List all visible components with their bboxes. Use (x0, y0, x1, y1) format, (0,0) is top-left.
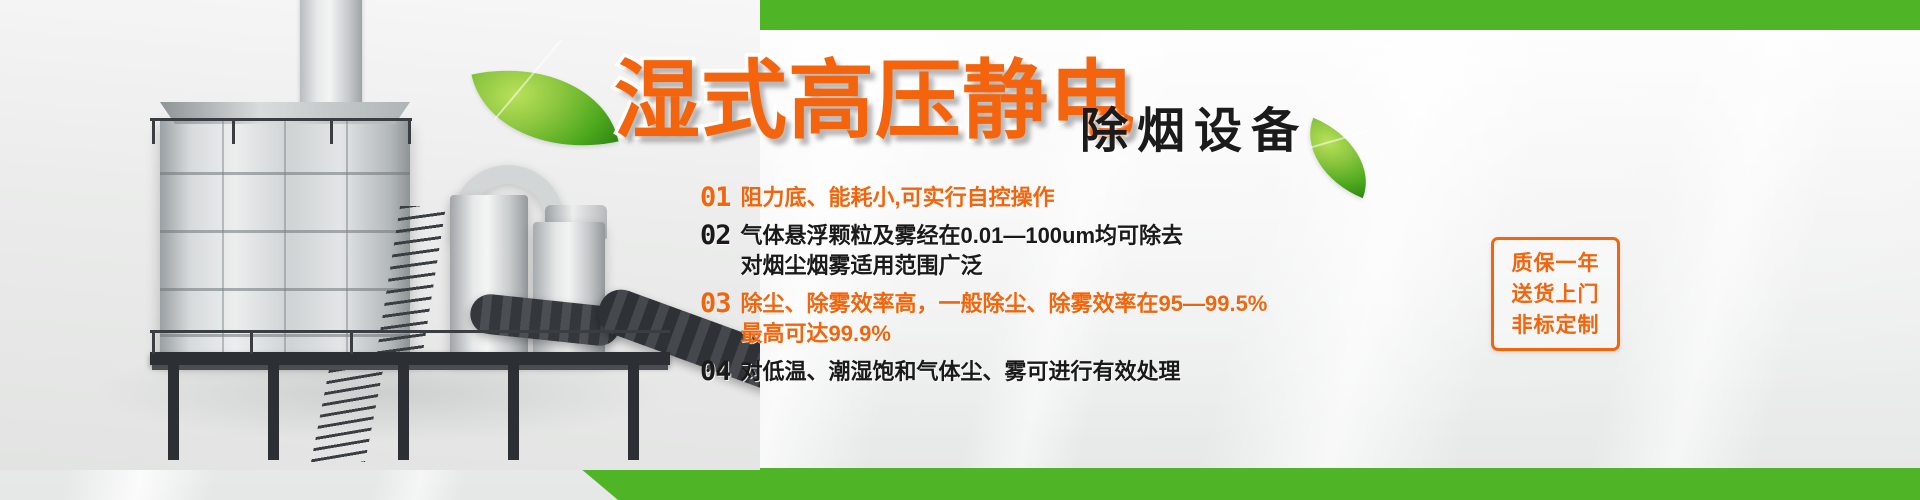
feature-text-02: 气体悬浮颗粒及雾经在0.01—100um均可除去 对烟尘烟雾适用范围广泛 (741, 221, 1184, 281)
service-guarantee-badge: 质保一年 送货上门 非标定制 (1491, 237, 1620, 351)
feature-line-1: 气体悬浮颗粒及雾经在0.01—100um均可除去 (741, 223, 1184, 248)
guardrail-top (150, 118, 412, 121)
badge-line-1: 质保一年 (1512, 248, 1600, 279)
badge-line-2: 送货上门 (1512, 279, 1600, 310)
platform-leg (628, 365, 639, 460)
headline-subtitle: 除烟设备 (1080, 108, 1308, 156)
feature-text-03: 除尘、除雾效率高，一般除尘、除雾效率在95—99.5% 最高可达99.9% (741, 289, 1268, 349)
feature-item-01: 01 阻力底、能耗小,可实行自控操作 (700, 183, 1310, 213)
feature-line-1: 对低温、潮湿饱和气体尘、雾可进行有效处理 (741, 359, 1181, 384)
feature-text-01: 阻力底、能耗小,可实行自控操作 (741, 183, 1055, 213)
feature-text-04: 对低温、潮湿饱和气体尘、雾可进行有效处理 (741, 357, 1181, 387)
feature-number-04: 04 (700, 357, 731, 387)
platform-leg (398, 365, 409, 460)
feature-item-04: 04 对低温、潮湿饱和气体尘、雾可进行有效处理 (700, 357, 1310, 387)
platform-leg (168, 365, 179, 460)
feature-line-1: 除尘、除雾效率高，一般除尘、除雾效率在95—99.5% (741, 291, 1268, 316)
green-top-accent (620, 0, 1920, 30)
deck-guardrail-post (152, 330, 155, 354)
feature-item-02: 02 气体悬浮颗粒及雾经在0.01—100um均可除去 对烟尘烟雾适用范围广泛 (700, 221, 1310, 281)
guardrail-post (330, 118, 333, 144)
promo-banner: 湿式高压静电 除烟设备 01 阻力底、能耗小,可实行自控操作 02 气体悬浮颗粒… (0, 0, 1920, 500)
platform-leg (268, 365, 279, 460)
guardrail-post (232, 118, 235, 144)
feature-item-03: 03 除尘、除雾效率高，一般除尘、除雾效率在95—99.5% 最高可达99.9% (700, 289, 1310, 349)
feature-number-03: 03 (700, 289, 731, 319)
guardrail-post (152, 118, 155, 144)
guardrail-post (408, 118, 411, 144)
steel-platform-deck (150, 352, 670, 365)
deck-guardrail (150, 330, 670, 333)
badge-line-3: 非标定制 (1512, 310, 1600, 341)
feature-number-01: 01 (700, 183, 731, 213)
feature-line-2: 最高可达99.9% (741, 319, 1268, 349)
deck-guardrail-post (350, 330, 353, 354)
headline-title: 湿式高压静电 (614, 58, 1136, 144)
feature-line-2: 对烟尘烟雾适用范围广泛 (741, 251, 1184, 281)
feature-list: 01 阻力底、能耗小,可实行自控操作 02 气体悬浮颗粒及雾经在0.01—100… (700, 183, 1310, 391)
feature-number-02: 02 (700, 221, 731, 251)
dust-collector-tower (160, 120, 410, 360)
platform-leg (508, 365, 519, 460)
steel-platform-edge (152, 365, 668, 370)
feature-line-1: 阻力底、能耗小,可实行自控操作 (741, 185, 1055, 210)
green-bottom-accent (580, 468, 1920, 500)
deck-guardrail-post (250, 330, 253, 354)
